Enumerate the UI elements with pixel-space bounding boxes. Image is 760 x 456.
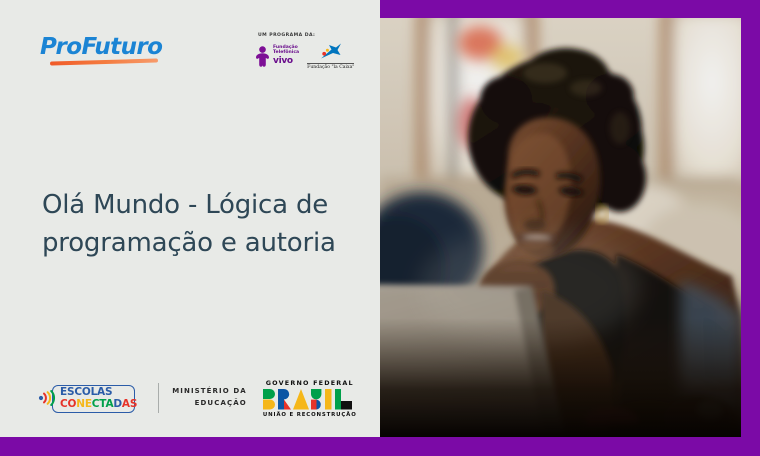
vivo-wordmark: vivo <box>273 57 299 66</box>
footer-divider <box>158 383 159 413</box>
purple-bottom-bar <box>0 437 760 456</box>
footer-logo-row: ESCOLAS CONECTADAS MINISTÉRIO DA EDUCAÇÃ… <box>36 375 346 421</box>
conectadas-seg-0: CO <box>60 398 76 410</box>
la-caixa-caption: Fundação "la Caixa" <box>307 63 354 70</box>
purple-right-strip <box>741 0 760 437</box>
ministry-of-education-label: MINISTÉRIO DA EDUCAÇÃO <box>172 386 247 409</box>
fundacao-telefonica-logo: Fundação Telefônica vivo <box>255 46 299 67</box>
hero-photo <box>380 18 741 437</box>
course-cover-slide: ProFuturo UM PROGRAMA DA: Fundação <box>0 0 760 456</box>
ministry-line1: MINISTÉRIO DA <box>172 386 247 398</box>
person-icon <box>255 46 270 67</box>
escolas-word-bottom: CONECTADAS <box>60 399 137 410</box>
purple-top-band <box>380 0 760 18</box>
sponsor-logo-row: Fundação Telefônica vivo Fundação <box>255 42 367 70</box>
program-credit-block: UM PROGRAMA DA: Fundação Telefônica vivo <box>255 33 367 70</box>
wifi-signal-icon <box>38 389 56 407</box>
conectadas-seg-4: AS <box>122 398 137 410</box>
governo-federal-logo: GOVERNO FEDERAL <box>263 379 357 418</box>
escolas-conectadas-logo: ESCOLAS CONECTADAS <box>36 384 143 412</box>
ministry-line2: EDUCAÇÃO <box>172 398 247 410</box>
program-credit-label: UM PROGRAMA DA: <box>258 33 367 38</box>
escolas-word-top: ESCOLAS <box>60 387 137 398</box>
uniao-reconstrucao-label: UNIÃO E RECONSTRUÇÃO <box>263 412 357 418</box>
conectadas-seg-2: CTA <box>92 398 114 410</box>
conectadas-seg-1: NE <box>76 398 92 410</box>
left-content-panel: ProFuturo UM PROGRAMA DA: Fundação <box>0 0 380 437</box>
governo-federal-label: GOVERNO FEDERAL <box>266 379 354 387</box>
profuturo-wordmark: ProFuturo <box>40 36 180 59</box>
brasil-wordmark-icon <box>263 389 357 410</box>
star-burst-icon <box>319 42 343 62</box>
conectadas-seg-3: D <box>113 398 122 410</box>
fundacao-telefonica-text: Fundação Telefônica vivo <box>273 46 299 66</box>
page-title: Olá Mundo - Lógica de programação e auto… <box>42 187 342 262</box>
escolas-wordmark: ESCOLAS CONECTADAS <box>60 387 137 409</box>
fundacao-la-caixa-logo: Fundação "la Caixa" <box>307 42 354 70</box>
profuturo-logo: ProFuturo <box>40 36 180 66</box>
